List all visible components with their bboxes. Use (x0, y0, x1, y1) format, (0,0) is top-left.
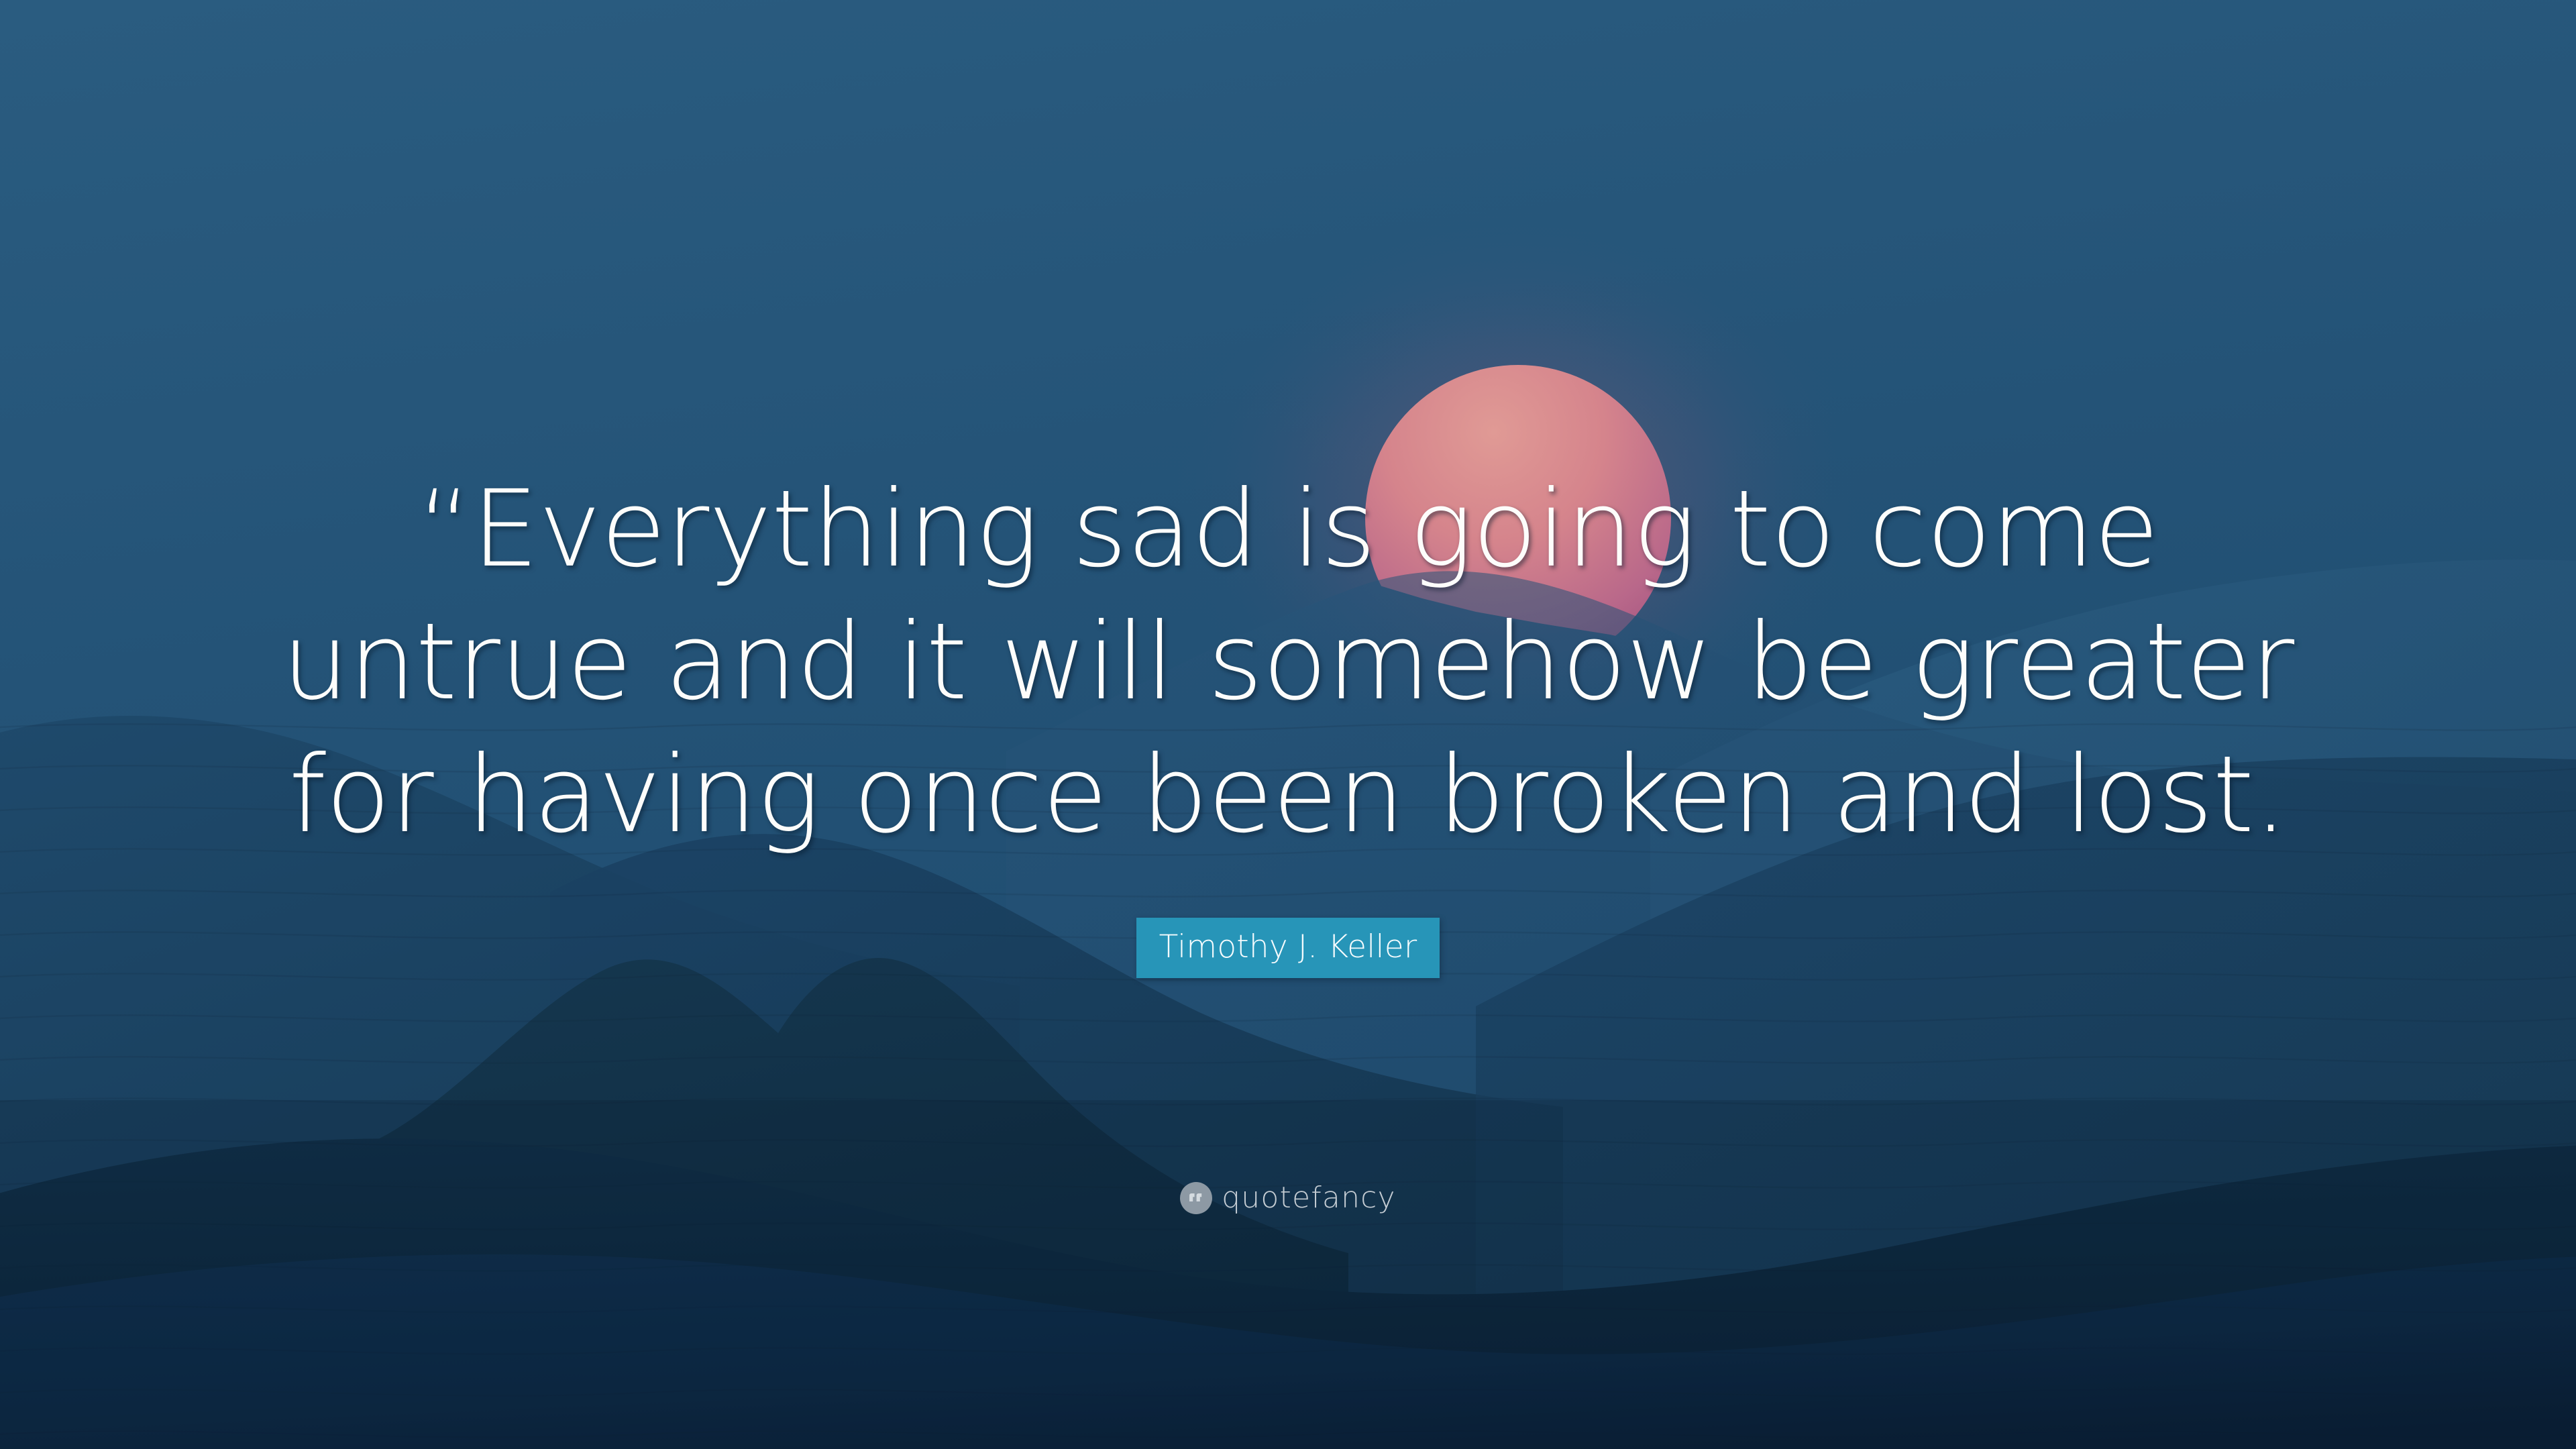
vignette-bottom (0, 1100, 2576, 1449)
watermark-brand: quotefancy (1222, 1182, 1396, 1214)
quote-text: “Everything sad is going to come untrue … (0, 463, 2576, 861)
quote-line-3: for having once been broken and lost. (0, 729, 2576, 861)
quote-line-1: “Everything sad is going to come (0, 463, 2576, 596)
watermark-inner: quotefancy (1180, 1182, 1396, 1214)
watermark: quotefancy (0, 1182, 2576, 1214)
quote-mark-icon (1180, 1182, 1212, 1214)
author-name-badge: Timothy J. Keller (1136, 918, 1440, 978)
author-attribution: Timothy J. Keller (0, 918, 2576, 978)
quote-wallpaper: “Everything sad is going to come untrue … (0, 0, 2576, 1449)
quote-line-2: untrue and it will somehow be greater (0, 596, 2576, 729)
